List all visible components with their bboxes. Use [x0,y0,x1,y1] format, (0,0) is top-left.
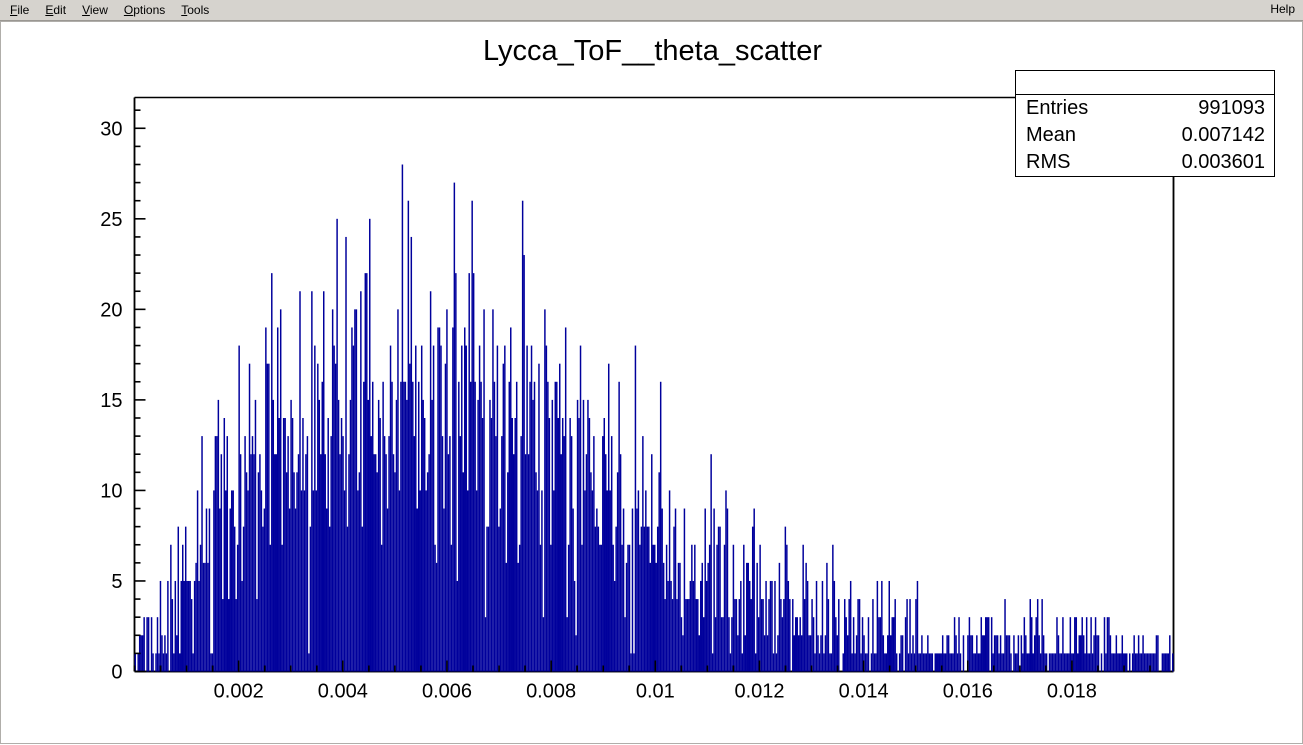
y-tick-label: 10 [100,480,122,502]
x-tick-label: 0.008 [526,681,576,703]
stats-title-row [1016,71,1274,95]
menu-bar: File Edit View Options Tools Help [0,0,1303,21]
menu-item-file-rest: ile [17,3,29,17]
y-tick-label: 20 [100,299,122,321]
x-tick-label: 0.016 [943,681,993,703]
y-tick-label: 25 [100,209,122,231]
x-tick-label: 0.006 [422,681,472,703]
y-tick-label: 0 [111,662,122,684]
x-tick-label: 0.01 [636,681,675,703]
menu-item-view-rest: iew [90,3,108,17]
menu-item-help-rest: elp [1279,2,1295,16]
histogram-bars [135,165,1174,672]
y-tick-label: 15 [100,390,122,412]
stats-value-mean: 0.007142 [1182,122,1265,149]
menu-item-view[interactable]: View [76,2,118,19]
plot-canvas[interactable]: Lycca_ToF__theta_scatter 0510152025300.0… [0,21,1303,744]
root-canvas-window: File Edit View Options Tools Help Lycca_… [0,0,1303,744]
stats-value-rms: 0.003601 [1182,149,1265,176]
stats-label-rms: RMS [1026,149,1070,176]
x-tick-label: 0.002 [214,681,264,703]
stats-box[interactable]: Entries 991093 Mean 0.007142 RMS 0.00360… [1015,70,1275,177]
stats-label-entries: Entries [1026,95,1088,122]
menu-item-options[interactable]: Options [118,2,175,19]
stats-row-entries: Entries 991093 [1016,95,1274,122]
stats-row-rms: RMS 0.003601 [1016,149,1274,176]
menu-item-options-rest: ptions [133,3,165,17]
menu-item-edit-rest: dit [53,3,66,17]
stats-label-mean: Mean [1026,122,1076,149]
stats-row-mean: Mean 0.007142 [1016,122,1274,149]
stats-value-entries: 991093 [1198,95,1265,122]
menu-item-help-mnemonic: H [1270,2,1279,16]
menu-item-help[interactable]: Help [1270,2,1295,17]
menu-item-tools-rest: ools [187,3,209,17]
y-tick-label: 5 [111,571,122,593]
menu-item-file[interactable]: File [4,2,39,19]
x-tick-label: 0.014 [839,681,889,703]
x-tick-label: 0.018 [1047,681,1097,703]
menu-item-tools[interactable]: Tools [175,2,219,19]
y-tick-label: 30 [100,118,122,140]
menu-item-view-mnemonic: V [82,3,90,17]
x-tick-label: 0.012 [734,681,784,703]
menu-item-options-mnemonic: O [124,3,133,17]
menu-items: File Edit View Options Tools [4,2,219,19]
menu-item-edit[interactable]: Edit [39,2,76,19]
x-tick-label: 0.004 [318,681,368,703]
